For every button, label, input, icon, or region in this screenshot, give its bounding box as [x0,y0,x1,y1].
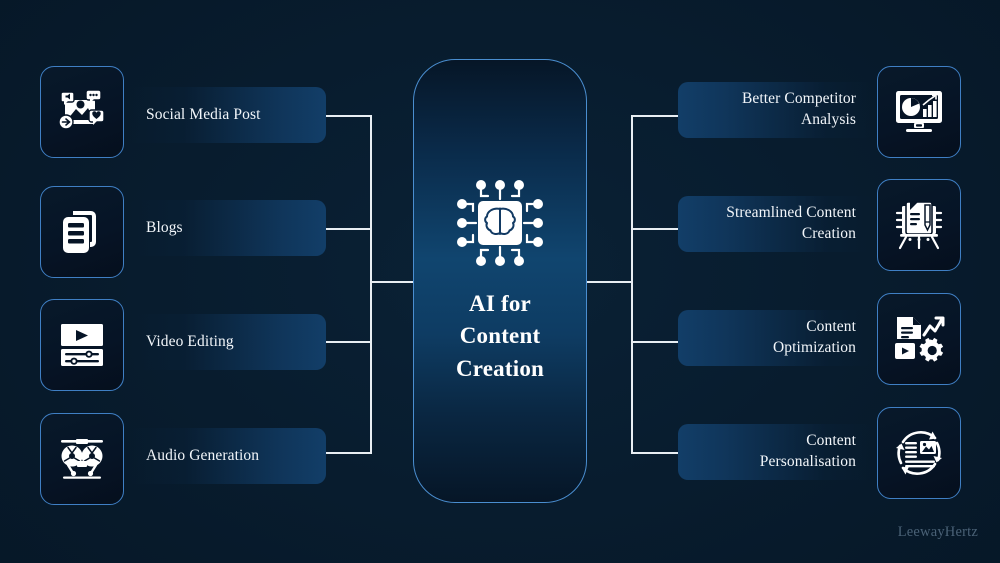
connector-left-stub-3 [322,341,372,343]
output-icon-tile-better-competitor-analysis[interactable] [877,66,961,158]
content-personalisation-refresh-icon [892,427,946,479]
diagram-canvas: Social Media Post Blogs Video Editing Au… [0,0,1000,563]
connector-right-stub-2 [631,228,681,230]
connector-right-to-center [584,281,633,283]
connector-right-stub-1 [631,115,681,117]
center-node-ai-for-content-creation[interactable]: AI for Content Creation [413,59,587,503]
center-title-line: Content [456,320,544,353]
connector-left-stub-2 [322,228,372,230]
input-label-line: Social Media Post [146,105,261,126]
connector-right-stub-3 [631,341,681,343]
audio-generation-reel-icon [55,435,109,483]
connector-left-stub-4 [322,452,372,454]
input-label-line: Blogs [146,218,183,239]
center-node-title: AI for Content Creation [456,288,544,386]
input-icon-tile-social-media-post[interactable] [40,66,124,158]
input-icon-tile-blogs[interactable] [40,186,124,278]
content-creation-easel-icon [892,200,946,250]
output-label-line: Creation [726,224,856,245]
output-icon-tile-content-personalisation[interactable] [877,407,961,499]
output-label-line: Analysis [742,110,856,131]
input-label-video-editing[interactable]: Video Editing [130,314,326,370]
ai-chip-brain-icon [454,177,546,274]
social-media-post-icon [56,88,108,136]
input-label-blogs[interactable]: Blogs [130,200,326,256]
input-label-audio-generation[interactable]: Audio Generation [130,428,326,484]
center-title-line: Creation [456,353,544,386]
connector-right-trunk [631,115,633,454]
output-label-content-personalisation[interactable]: Content Personalisation [678,424,872,480]
content-optimization-gear-icon [892,315,946,363]
connector-right-stub-4 [631,452,681,454]
competitor-analysis-monitor-icon [892,88,946,136]
blogs-documents-icon [59,208,105,256]
output-label-line: Personalisation [760,452,856,473]
connector-left-trunk [370,115,372,454]
output-label-line: Optimization [773,338,856,359]
input-icon-tile-audio-generation[interactable] [40,413,124,505]
center-title-line: AI for [456,288,544,321]
watermark-leewayhertz: LeewayHertz [898,524,978,541]
input-icon-tile-video-editing[interactable] [40,299,124,391]
input-label-line: Audio Generation [146,446,259,467]
output-label-streamlined-content-creation[interactable]: Streamlined Content Creation [678,196,872,252]
input-label-social-media-post[interactable]: Social Media Post [130,87,326,143]
output-icon-tile-content-optimization[interactable] [877,293,961,385]
output-label-content-optimization[interactable]: Content Optimization [678,310,872,366]
output-icon-tile-streamlined-content-creation[interactable] [877,179,961,271]
output-label-line: Content [773,317,856,338]
output-label-line: Content [760,431,856,452]
video-editing-icon [57,322,107,368]
connector-left-stub-1 [322,115,372,117]
output-label-line: Streamlined Content [726,203,856,224]
output-label-line: Better Competitor [742,89,856,110]
input-label-line: Video Editing [146,332,234,353]
output-label-better-competitor-analysis[interactable]: Better Competitor Analysis [678,82,872,138]
connector-left-to-center [370,281,418,283]
